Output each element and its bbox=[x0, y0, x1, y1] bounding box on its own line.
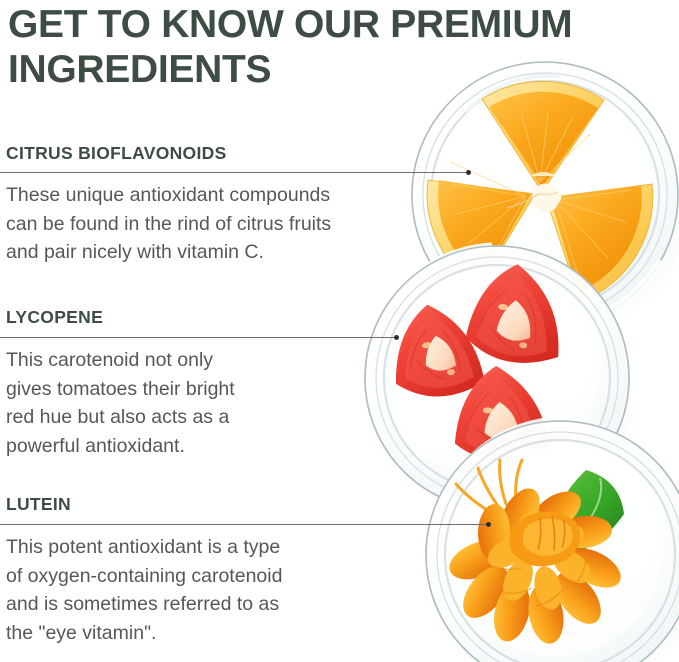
body-line: This potent antioxidant is a type bbox=[6, 533, 282, 562]
body-line: This carotenoid not only bbox=[6, 346, 235, 375]
callout-leader-line-lutein bbox=[0, 524, 488, 525]
body-line: These unique antioxidant compounds bbox=[6, 181, 331, 210]
section-heading-lutein: LUTEIN bbox=[6, 494, 71, 515]
callout-dot-lycopene bbox=[394, 335, 399, 340]
body-line: can be found in the rind of citrus fruit… bbox=[6, 210, 331, 239]
section-body-lycopene: This carotenoid not only gives tomatoes … bbox=[6, 346, 235, 460]
body-line: red hue but also acts as a bbox=[6, 403, 235, 432]
section-body-lutein: This potent antioxidant is a type of oxy… bbox=[6, 533, 282, 647]
callout-dot-citrus bbox=[466, 170, 471, 175]
body-line: the "eye vitamin". bbox=[6, 619, 282, 648]
callout-dot-lutein bbox=[486, 522, 491, 527]
page-title: GET TO KNOW OUR PREMIUM INGREDIENTS bbox=[8, 2, 658, 92]
body-line: and is sometimes referred to as bbox=[6, 590, 282, 619]
section-heading-lycopene: LYCOPENE bbox=[6, 307, 103, 328]
section-heading-citrus: CITRUS BIOFLAVONOIDS bbox=[6, 143, 227, 164]
body-line: and pair nicely with vitamin C. bbox=[6, 238, 331, 267]
section-body-citrus: These unique antioxidant compounds can b… bbox=[6, 181, 331, 267]
body-line: powerful antioxidant. bbox=[6, 432, 235, 461]
callout-leader-line-lycopene bbox=[0, 337, 396, 338]
body-line: of oxygen-containing carotenoid bbox=[6, 562, 282, 591]
body-line: gives tomatoes their bright bbox=[6, 375, 235, 404]
infographic-content: GET TO KNOW OUR PREMIUM INGREDIENTS CITR… bbox=[0, 0, 679, 662]
callout-leader-line-citrus bbox=[0, 172, 468, 173]
